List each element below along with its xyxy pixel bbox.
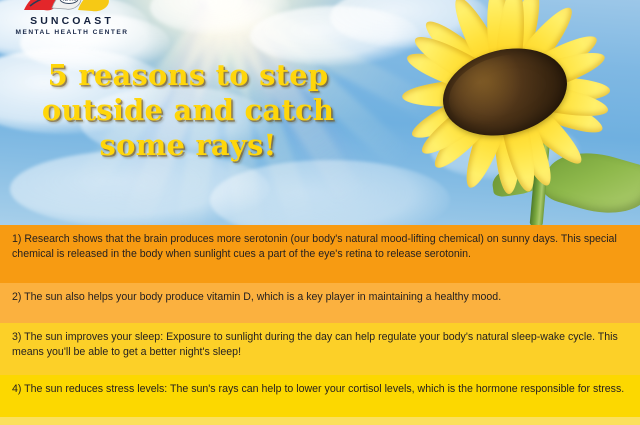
headline-line-3: some rays! <box>18 128 358 163</box>
reason-item-4: 4) The sun reduces stress levels: The su… <box>0 375 640 417</box>
logo-text: SUNCOAST MENTAL HEALTH CENTER <box>14 16 130 37</box>
reason-item-2: 2) The sun also helps your body produce … <box>0 283 640 323</box>
hero-photo: YEARS SUNCOAST MENTAL HEALTH CENTER 5 re… <box>0 0 640 225</box>
footer-strip <box>0 417 640 425</box>
reason-item-1: 1) Research shows that the brain produce… <box>0 225 640 283</box>
headline-line-2: outside and catch <box>18 93 358 128</box>
svg-text:YEARS: YEARS <box>61 0 77 3</box>
logo-subtitle: MENTAL HEALTH CENTER <box>14 28 130 37</box>
suncoast-swoosh-icon: YEARS <box>22 0 122 16</box>
brand-logo[interactable]: YEARS SUNCOAST MENTAL HEALTH CENTER <box>14 0 130 40</box>
reasons-list: 1) Research shows that the brain produce… <box>0 225 640 425</box>
sunflower-image <box>386 4 640 225</box>
headline-line-1: 5 reasons to step <box>18 58 358 93</box>
reason-item-3: 3) The sun improves your sleep: Exposure… <box>0 323 640 375</box>
logo-name: SUNCOAST <box>14 16 130 27</box>
headline: 5 reasons to step outside and catch some… <box>18 58 358 163</box>
poster-graphic: YEARS SUNCOAST MENTAL HEALTH CENTER 5 re… <box>0 0 640 425</box>
